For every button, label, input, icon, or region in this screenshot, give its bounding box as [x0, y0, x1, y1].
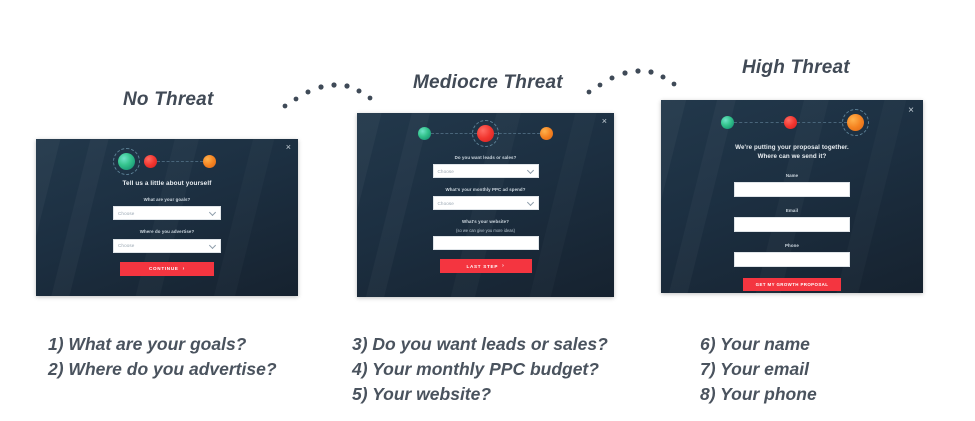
saturn-planet-icon[interactable]	[203, 155, 216, 168]
form-body: Tell us a little about yourself What are…	[36, 179, 298, 276]
form-headline: Tell us a little about yourself	[36, 179, 298, 188]
form-headline-line1: We're putting your proposal together.	[661, 144, 923, 153]
select-goals[interactable]: Choose	[113, 206, 221, 220]
step-connector-line	[494, 133, 540, 135]
form-headline: We're putting your proposal together. Wh…	[661, 144, 923, 162]
get-proposal-button-label: GET MY GROWTH PROPOSAL	[756, 282, 829, 287]
select-advertise[interactable]: Choose	[113, 239, 221, 253]
chevron-down-icon	[209, 209, 216, 216]
field-label-name: Name	[661, 173, 923, 179]
dotted-arc-connector-2	[585, 48, 685, 96]
caption-item: 3) Do you want leads or sales?	[352, 332, 608, 357]
heading-mediocre-threat: Mediocre Threat	[413, 72, 563, 94]
mars-planet-icon[interactable]	[477, 125, 494, 142]
mars-planet-icon[interactable]	[144, 155, 157, 168]
chevron-right-icon: ›	[183, 266, 185, 272]
earth-planet-icon[interactable]	[118, 153, 135, 170]
heading-high-threat: High Threat	[742, 57, 850, 79]
caption-item: 4) Your monthly PPC budget?	[352, 357, 608, 382]
input-phone[interactable]	[734, 252, 850, 267]
field-label-goals: What are your goals?	[36, 197, 298, 203]
earth-planet-icon[interactable]	[418, 127, 431, 140]
caption-item: 5) Your website?	[352, 382, 608, 407]
caption-list-no-threat: 1) What are your goals? 2) Where do you …	[48, 332, 277, 382]
select-leads-or-sales-value: Choose	[438, 169, 454, 174]
select-leads-or-sales[interactable]: Choose	[433, 164, 539, 178]
chevron-right-icon: ›	[502, 263, 504, 269]
chevron-down-icon	[209, 242, 216, 249]
chevron-down-icon	[526, 167, 533, 174]
step-indicator	[36, 153, 298, 170]
input-name[interactable]	[734, 182, 850, 197]
step-connector-line	[734, 122, 784, 124]
caption-list-high-threat: 6) Your name 7) Your email 8) Your phone	[700, 332, 817, 407]
mars-planet-icon[interactable]	[784, 116, 797, 129]
step-indicator	[357, 125, 614, 142]
field-label-ad-spend: What's your monthly PPC ad spend?	[357, 187, 614, 193]
close-icon[interactable]: ×	[286, 143, 291, 152]
step-connector-line	[797, 122, 847, 124]
caption-item: 7) Your email	[700, 357, 817, 382]
field-sublabel-website: (so we can give you more ideas)	[357, 228, 614, 233]
modal-panel-mediocre-threat: × Do you want leads or sales? Choose Wha…	[357, 113, 614, 297]
get-proposal-button[interactable]: GET MY GROWTH PROPOSAL	[743, 278, 841, 291]
select-goals-value: Choose	[118, 211, 134, 216]
field-label-leads-or-sales: Do you want leads or sales?	[357, 155, 614, 161]
field-label-email: Email	[661, 208, 923, 214]
modal-panel-high-threat: × We're putting your proposal together. …	[661, 100, 923, 293]
input-website[interactable]	[433, 236, 539, 250]
caption-item: 1) What are your goals?	[48, 332, 277, 357]
step-indicator	[661, 114, 923, 131]
caption-item: 2) Where do you advertise?	[48, 357, 277, 382]
last-step-button-label: LAST STEP	[467, 264, 499, 269]
select-ad-spend[interactable]: Choose	[433, 196, 539, 210]
continue-button-label: CONTINUE	[149, 266, 179, 271]
step-connector-line	[157, 161, 203, 163]
chevron-down-icon	[526, 199, 533, 206]
field-label-phone: Phone	[661, 243, 923, 249]
field-label-advertise: Where do you advertise?	[36, 229, 298, 235]
step-connector-line	[431, 133, 477, 135]
saturn-planet-icon[interactable]	[540, 127, 553, 140]
heading-no-threat: No Threat	[123, 89, 213, 111]
caption-item: 8) Your phone	[700, 382, 817, 407]
modal-panel-no-threat: × Tell us a little about yourself What a…	[36, 139, 298, 296]
form-body: We're putting your proposal together. Wh…	[661, 144, 923, 291]
select-ad-spend-value: Choose	[438, 201, 454, 206]
caption-item: 6) Your name	[700, 332, 817, 357]
form-headline-line2: Where can we send it?	[661, 153, 923, 162]
dotted-arc-connector-1	[281, 62, 381, 110]
field-label-website: What's your website?	[357, 219, 614, 225]
saturn-planet-icon[interactable]	[847, 114, 864, 131]
continue-button[interactable]: CONTINUE ›	[120, 262, 214, 276]
caption-list-mediocre-threat: 3) Do you want leads or sales? 4) Your m…	[352, 332, 608, 407]
earth-planet-icon[interactable]	[721, 116, 734, 129]
input-email[interactable]	[734, 217, 850, 232]
select-advertise-value: Choose	[118, 243, 134, 248]
last-step-button[interactable]: LAST STEP ›	[440, 259, 532, 273]
form-body: Do you want leads or sales? Choose What'…	[357, 155, 614, 273]
